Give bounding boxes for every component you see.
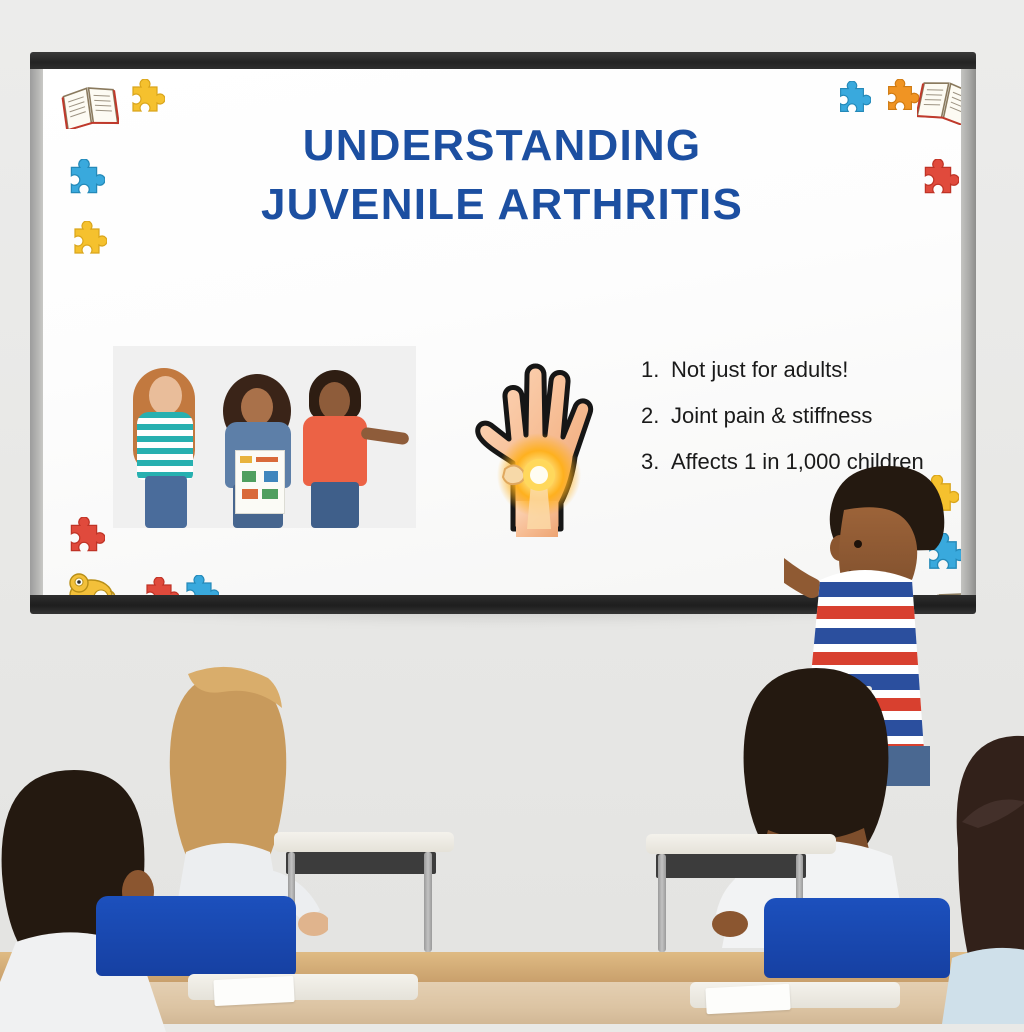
fact-text-2: Joint pain & stiffness — [671, 405, 961, 427]
whiteboard-rail-left — [30, 69, 43, 595]
whiteboard-frame-top — [30, 52, 976, 69]
inflamed-hand-joint-illustration — [461, 351, 613, 551]
desk-front-left — [188, 974, 418, 1024]
desk-back-left — [274, 832, 454, 952]
paper-sheet-right — [705, 984, 790, 1014]
three-children-photo — [113, 346, 416, 528]
puzzle-piece-blue-top-right — [833, 81, 871, 119]
fact-text-1: Not just for adults! — [671, 359, 961, 381]
puzzle-piece-red-bottom-left — [63, 517, 105, 559]
chair-back-left[interactable] — [96, 896, 296, 976]
student-girl-dark-curly — [928, 722, 1024, 1024]
slide-title: UNDERSTANDING JUVENILE ARTHRITIS — [43, 117, 961, 235]
paper-sheet-left — [213, 976, 294, 1006]
fact-item-1: 1. Not just for adults! — [641, 359, 961, 381]
fact-number-3: 3. — [641, 451, 671, 473]
puzzle-piece-red-bottom — [139, 577, 179, 595]
fact-number-1: 1. — [641, 359, 671, 381]
chair-right[interactable] — [764, 898, 950, 978]
fact-number-2: 2. — [641, 405, 671, 427]
fact-item-2: 2. Joint pain & stiffness — [641, 405, 961, 427]
puzzle-piece-blue-bottom — [179, 575, 219, 595]
desk-front-right — [690, 982, 900, 1024]
puzzle-piece-yellow-top-left — [125, 79, 165, 119]
student-boy-left-front — [0, 742, 210, 1032]
toy-mouse-icon-bottom-left — [65, 569, 117, 595]
puzzle-piece-orange-top-right — [881, 79, 919, 117]
slide-title-line-2: JUVENILE ARTHRITIS — [43, 176, 961, 235]
slide-title-line-1: UNDERSTANDING — [43, 117, 961, 176]
